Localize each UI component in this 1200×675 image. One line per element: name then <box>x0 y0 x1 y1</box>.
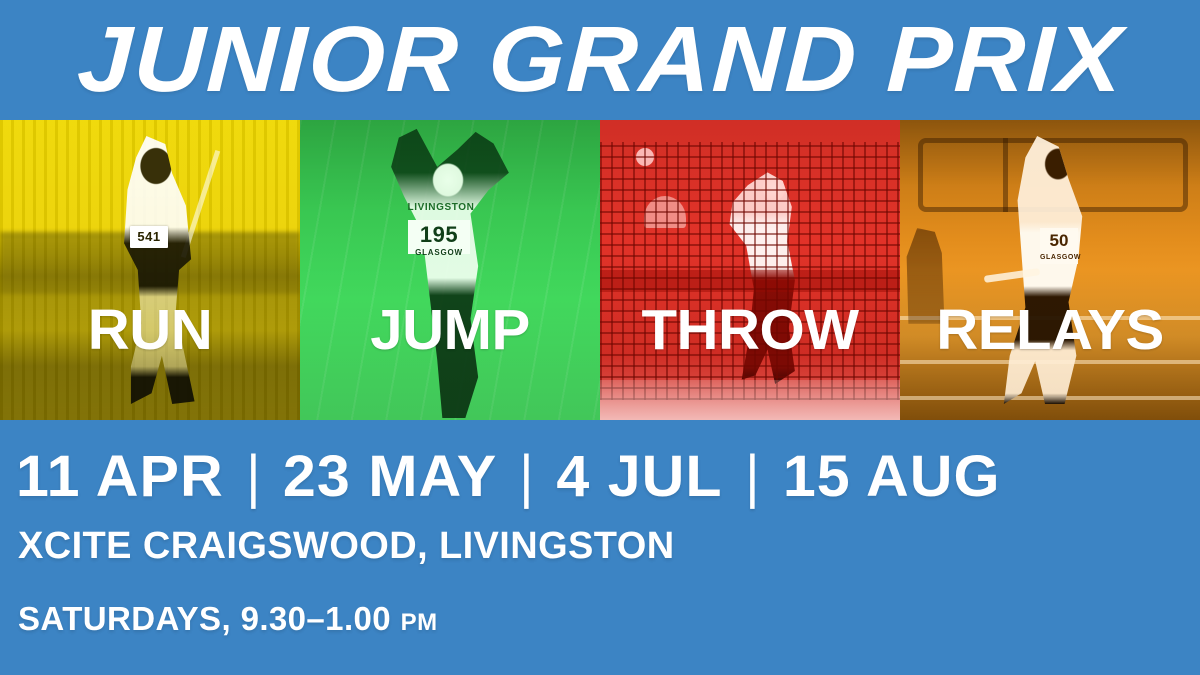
jump-athlete-bib: 195 GLASGOW <box>408 220 470 254</box>
jump-photo: LIVINGSTON 195 GLASGOW <box>300 120 600 420</box>
relays-bib-event: GLASGOW <box>1040 254 1078 261</box>
discipline-label-throw: THROW <box>600 302 900 359</box>
event-date-3: 4 JUL <box>557 448 723 506</box>
jump-vest-club: LIVINGSTON <box>404 202 478 213</box>
jump-athlete-figure <box>386 126 514 418</box>
discipline-panel-relays[interactable]: 50 GLASGOW RELAYS <box>900 120 1200 420</box>
event-details: 11 APR | 23 MAY | 4 JUL | 15 AUG XCITE C… <box>0 420 1200 675</box>
throw-ground <box>600 380 900 420</box>
page-title: JUNIOR GRAND PRIX <box>75 13 1124 106</box>
relays-athlete-bib: 50 GLASGOW <box>1040 228 1078 264</box>
event-venue: XCITE CRAIGSWOOD, LIVINGSTON <box>18 527 675 565</box>
title-bar: JUNIOR GRAND PRIX <box>0 0 1200 120</box>
run-photo: 541 <box>0 120 300 420</box>
discipline-panel-jump[interactable]: LIVINGSTON 195 GLASGOW JUMP <box>300 120 600 420</box>
event-times: SATURDAYS, 9.30–1.00 PM <box>18 602 438 635</box>
event-date-1: 11 APR <box>16 448 224 506</box>
date-separator: | <box>748 448 758 506</box>
discipline-label-relays: RELAYS <box>900 302 1200 359</box>
jump-bib-number: 195 <box>420 222 458 247</box>
date-separator: | <box>522 448 532 506</box>
discipline-panel-run[interactable]: 541 RUN <box>0 120 300 420</box>
date-separator: | <box>248 448 258 506</box>
event-times-suffix: PM <box>401 609 438 636</box>
run-athlete-bib: 541 <box>130 226 168 248</box>
relays-bib-number: 50 <box>1050 231 1069 250</box>
throw-photo <box>600 120 900 420</box>
discipline-label-run: RUN <box>0 302 300 359</box>
event-date-2: 23 MAY <box>283 448 497 506</box>
jump-bib-event: GLASGOW <box>408 250 470 256</box>
event-times-day: SATURDAYS, 9.30–1.00 <box>18 600 401 637</box>
discipline-label-jump: JUMP <box>300 302 600 359</box>
event-date-4: 15 AUG <box>782 448 1000 506</box>
event-dates-row: 11 APR | 23 MAY | 4 JUL | 15 AUG <box>18 448 998 506</box>
relays-photo: 50 GLASGOW <box>900 120 1200 420</box>
discipline-photo-strip: 541 RUN LIVINGSTON 195 GLASGOW JUMP <box>0 120 1200 420</box>
junior-grand-prix-poster: JUNIOR GRAND PRIX 541 RUN LIVINGSTON 195… <box>0 0 1200 675</box>
discipline-panel-throw[interactable]: THROW <box>600 120 900 420</box>
